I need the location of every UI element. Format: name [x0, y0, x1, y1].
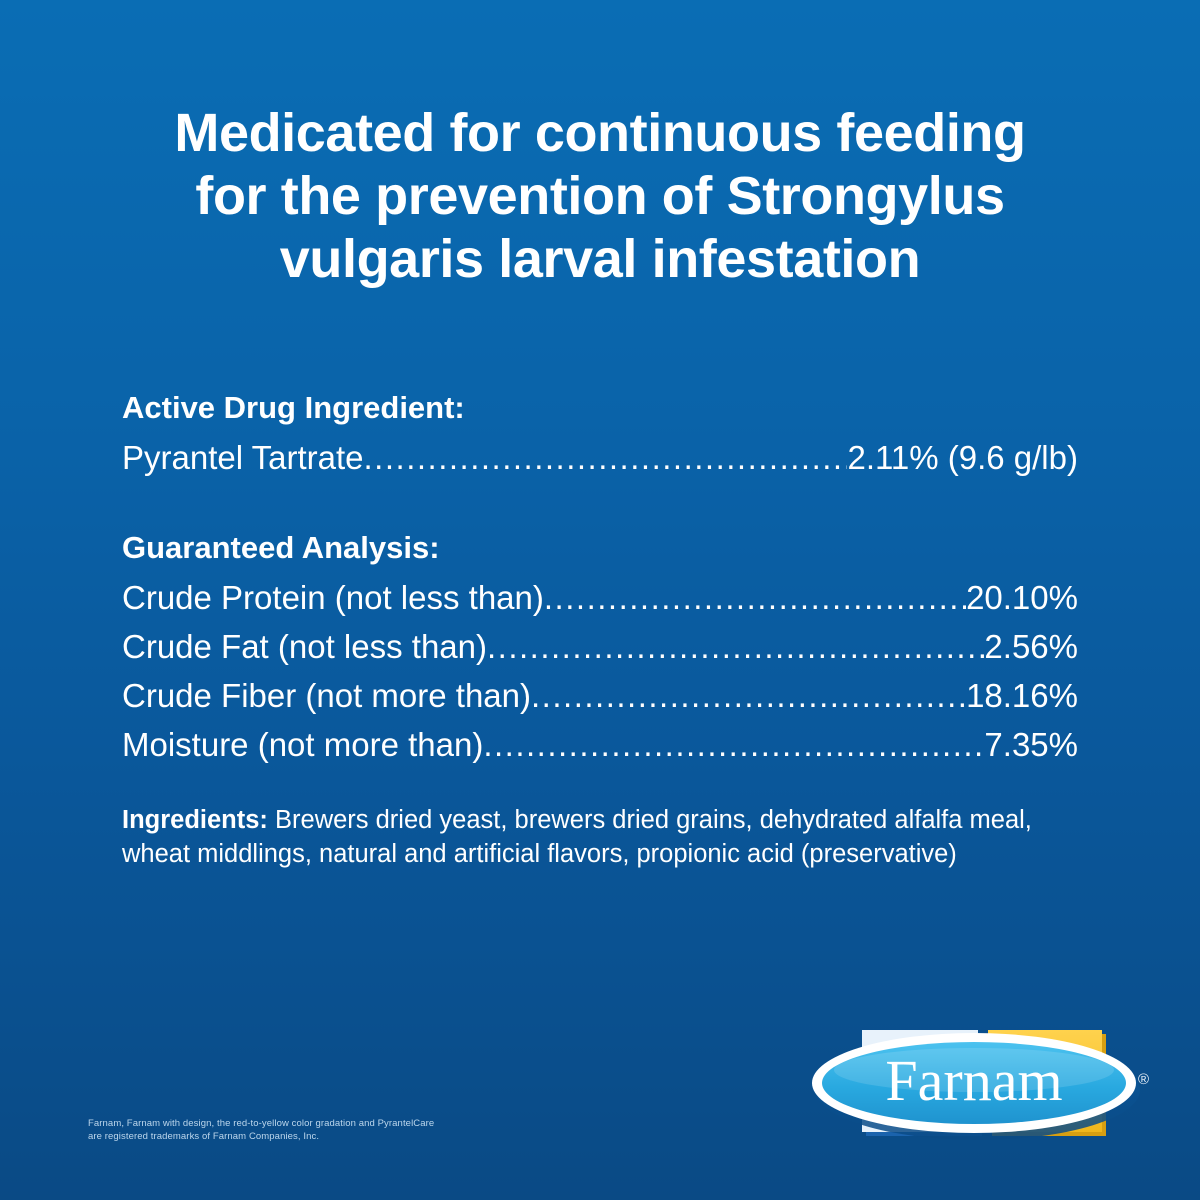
headline-line-1: Medicated for continuous feeding [70, 102, 1130, 165]
ingredients-paragraph: Ingredients: Brewers dried yeast, brewer… [122, 803, 1074, 871]
analysis-row-fiber: Crude Fiber (not more than) ............… [122, 671, 1078, 720]
trademark-line-2: are registered trademarks of Farnam Comp… [88, 1131, 434, 1144]
analysis-value: 7.35% [984, 720, 1078, 769]
active-drug-heading: Active Drug Ingredient: [122, 388, 1078, 428]
active-drug-value: 2.11% (9.6 g/lb) [847, 433, 1078, 482]
farnam-logo: Farnam ® [806, 1018, 1166, 1148]
analysis-name: Crude Protein (not less than) [122, 573, 544, 622]
ingredients-label: Ingredients: [122, 806, 268, 834]
analysis-value: 20.10% [966, 573, 1078, 622]
analysis-value: 2.56% [984, 622, 1078, 671]
trademark-notice: Farnam, Farnam with design, the red-to-y… [88, 1118, 434, 1143]
analysis-row-protein: Crude Protein (not less than) ..........… [122, 573, 1078, 622]
active-drug-row: Pyrantel Tartrate ......................… [122, 433, 1078, 482]
leader-dots: ........................................… [364, 433, 848, 482]
active-drug-name: Pyrantel Tartrate [122, 433, 364, 482]
section-spacer [122, 482, 1078, 528]
analysis-name: Crude Fat (not less than) [122, 622, 487, 671]
analysis-value: 18.16% [966, 671, 1078, 720]
analysis-name: Moisture (not more than) [122, 720, 483, 769]
leader-dots: ........................................… [483, 720, 984, 769]
leader-dots: ........................................… [487, 622, 984, 671]
leader-dots: ........................................… [531, 671, 966, 720]
trademark-line-1: Farnam, Farnam with design, the red-to-y… [88, 1118, 434, 1131]
leader-dots: ........................................… [544, 573, 966, 622]
analysis-name: Crude Fiber (not more than) [122, 671, 531, 720]
guaranteed-analysis-heading: Guaranteed Analysis: [122, 528, 1078, 568]
page-title: Medicated for continuous feeding for the… [0, 102, 1200, 291]
label-body: Active Drug Ingredient: Pyrantel Tartrat… [122, 388, 1078, 871]
farnam-logo-icon: Farnam [806, 1018, 1166, 1148]
headline-line-3: vulgaris larval infestation [70, 228, 1130, 291]
farnam-wordmark: Farnam [885, 1048, 1062, 1113]
analysis-row-moisture: Moisture (not more than) ...............… [122, 720, 1078, 769]
analysis-row-fat: Crude Fat (not less than) ..............… [122, 622, 1078, 671]
product-label: Medicated for continuous feeding for the… [0, 0, 1200, 1200]
headline-line-2: for the prevention of Strongylus [70, 165, 1130, 228]
registered-trademark-icon: ® [1138, 1072, 1149, 1087]
